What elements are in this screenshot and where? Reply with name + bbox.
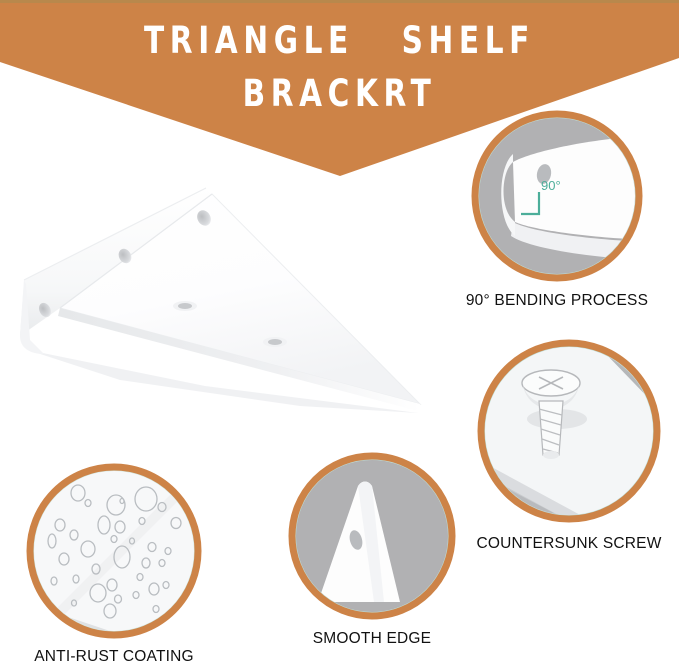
screw-shank <box>539 401 563 455</box>
feature-anti-rust-coating: ANTI-RUST COATING <box>26 463 202 639</box>
feature-bending-caption: 90° BENDING PROCESS <box>466 292 648 310</box>
feature-bending-process: 90° 90° BENDING PROCESS <box>471 110 643 282</box>
feature-screw-caption: COUNTERSUNK SCREW <box>476 535 661 553</box>
face-hole <box>268 339 282 345</box>
anti-rust-illustration <box>26 463 202 639</box>
title-line-1: TRIANGLE SHELF <box>68 18 611 63</box>
smooth-edge-illustration <box>288 452 456 620</box>
feature-rust-circle <box>26 463 202 639</box>
feature-screw-circle <box>477 339 661 523</box>
product-infographic-page: TRIANGLE SHELF BRACKRT <box>0 0 679 665</box>
feature-smooth-caption: SMOOTH EDGE <box>313 630 431 648</box>
angle-label: 90° <box>541 178 561 193</box>
feature-smooth-circle <box>288 452 456 620</box>
face-hole <box>178 303 192 309</box>
feature-bending-circle: 90° <box>471 110 643 282</box>
product-hero-image <box>0 168 440 443</box>
bending-illustration: 90° <box>471 110 643 282</box>
screw-illustration <box>477 339 661 523</box>
screw-tip <box>543 451 559 459</box>
feature-smooth-edge: SMOOTH EDGE <box>288 452 456 620</box>
bracket-illustration <box>0 168 440 443</box>
page-title: TRIANGLE SHELF BRACKRT <box>0 18 679 116</box>
feature-countersunk-screw: COUNTERSUNK SCREW <box>477 339 661 523</box>
feature-rust-caption: ANTI-RUST COATING <box>34 648 194 665</box>
